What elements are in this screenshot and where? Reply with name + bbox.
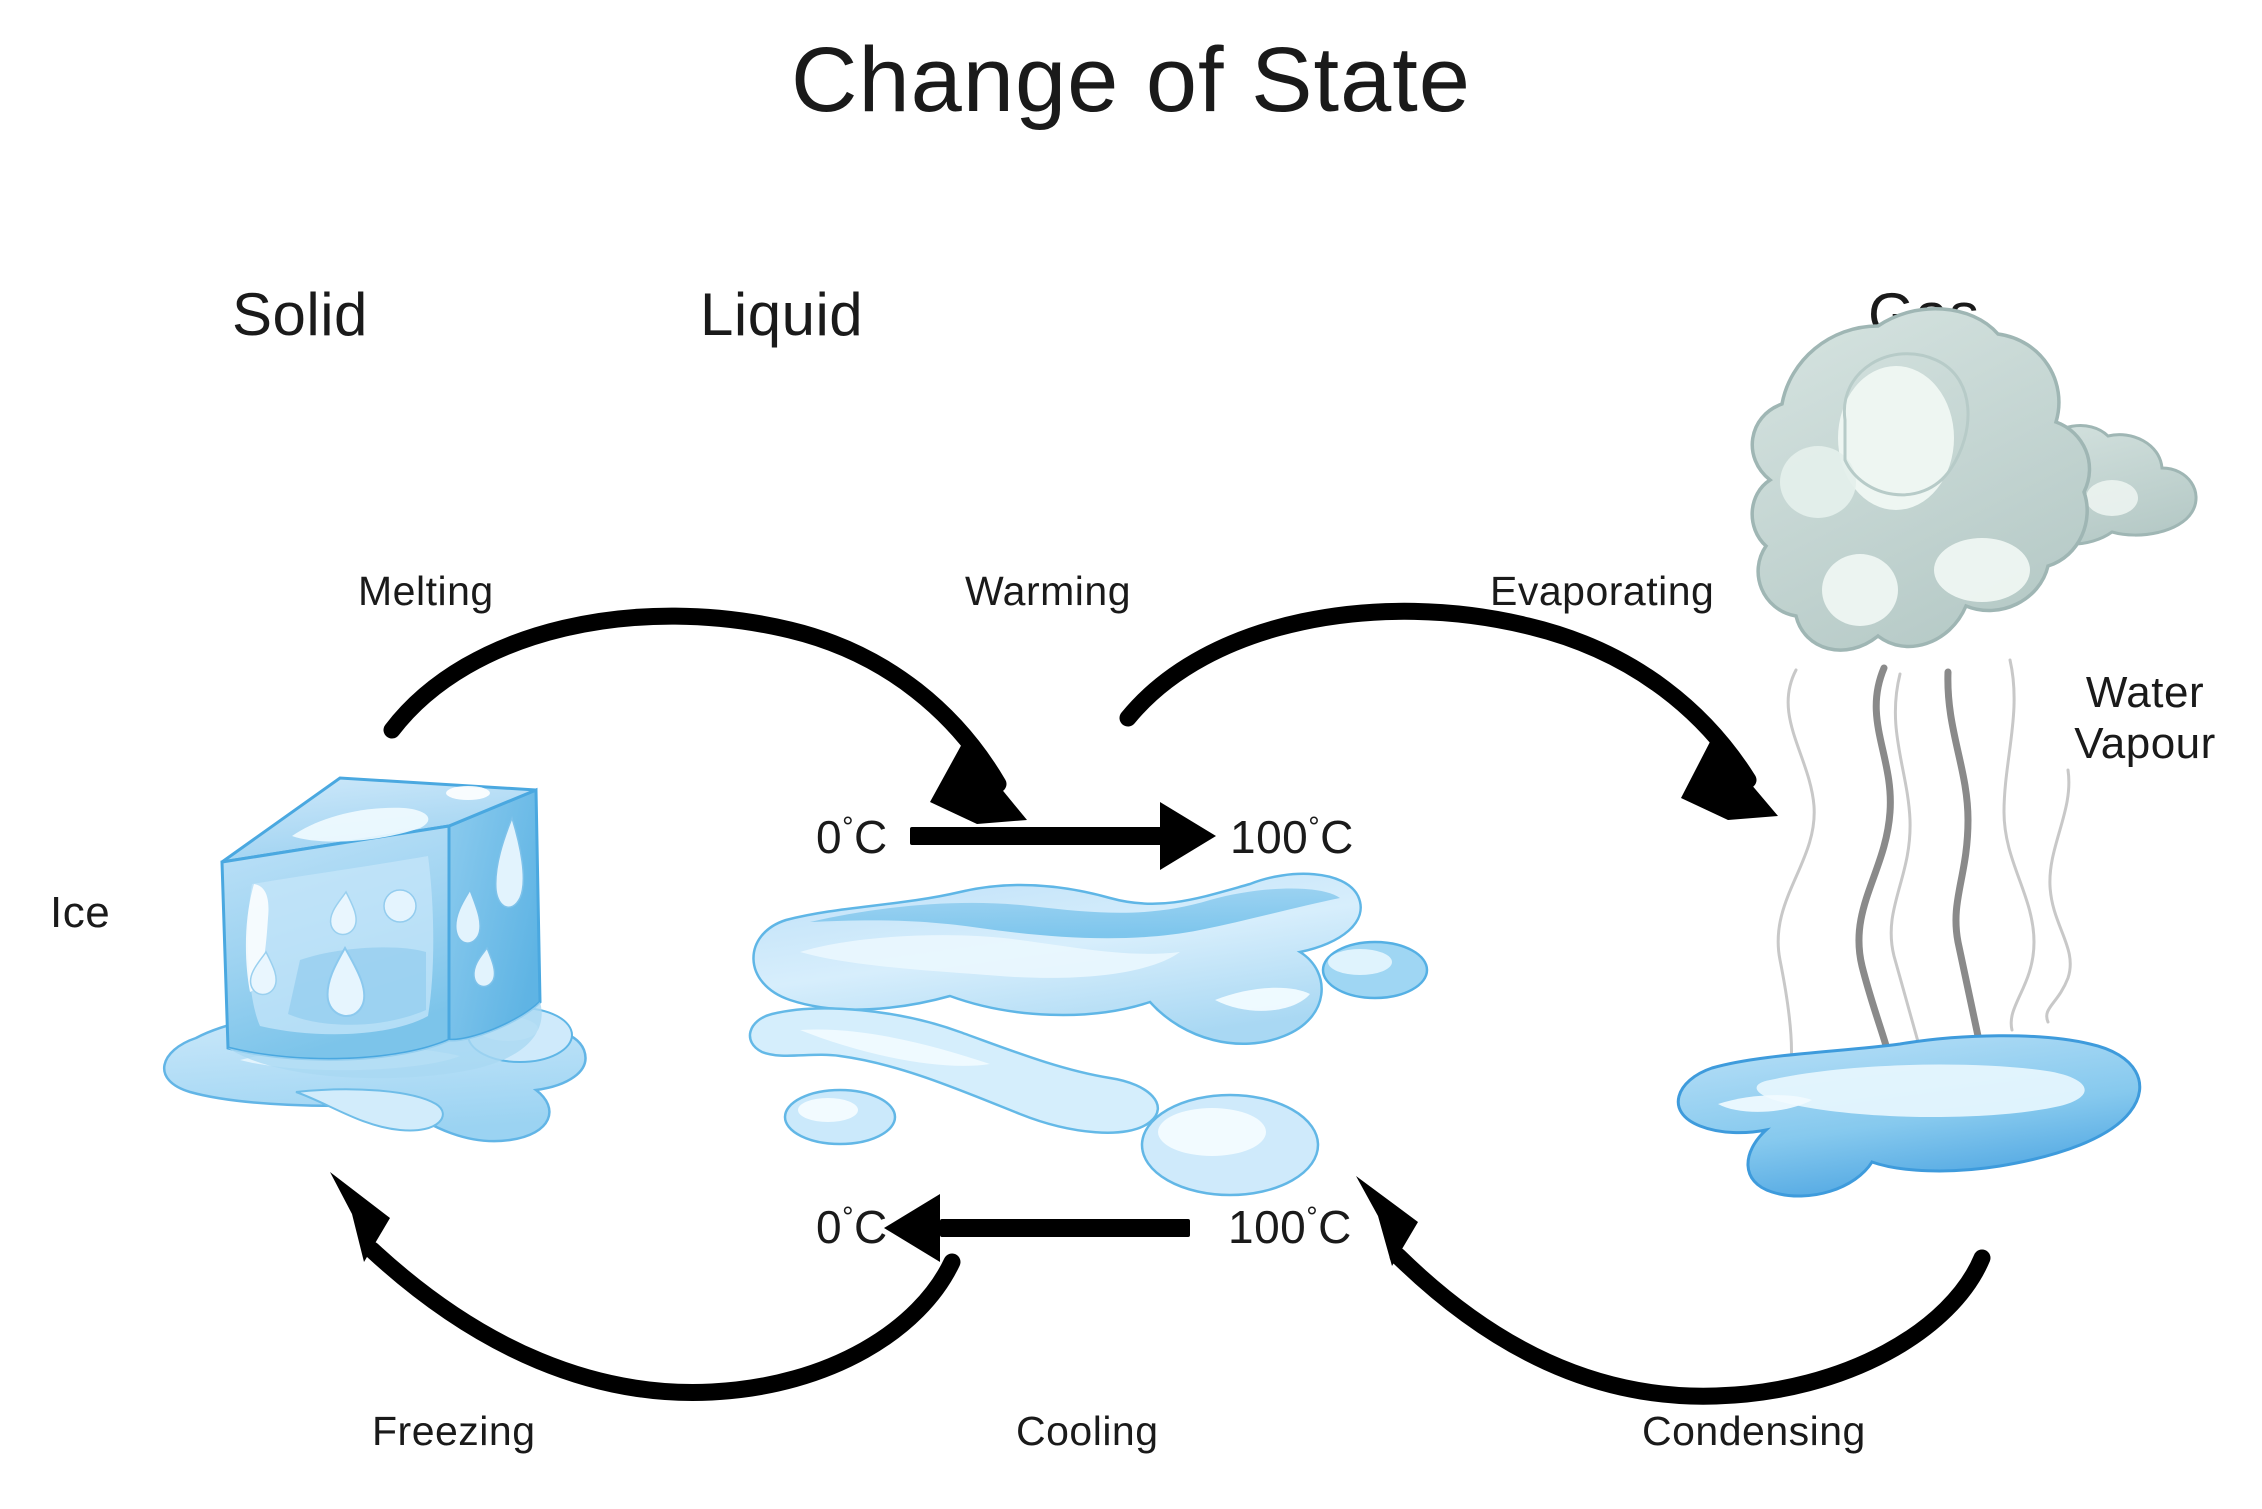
cloud-large-highlight-bottom-right xyxy=(1934,538,2030,602)
water-puddle-illustration xyxy=(750,874,1427,1195)
water-droplet-left-shine xyxy=(798,1098,858,1122)
cloud-large xyxy=(1752,309,2089,650)
cloud-small-highlight-3 xyxy=(2086,480,2138,516)
arrow-cooling-shaft xyxy=(940,1219,1190,1237)
cloud-large-highlight-center xyxy=(1838,366,1954,510)
arrow-condensing-curve xyxy=(1398,1256,1982,1396)
change-of-state-diagram: Change of State Solid Liquid Gas Melting… xyxy=(0,0,2262,1509)
arrow-freezing-curve xyxy=(372,1250,952,1393)
arrow-evaporating-curve xyxy=(1128,611,1748,780)
arrow-melting-curve xyxy=(392,616,998,784)
steam-line-6 xyxy=(2047,770,2071,1022)
arrow-cooling xyxy=(884,1194,1190,1262)
arrow-freezing xyxy=(330,1172,952,1393)
ice-face-bubble xyxy=(384,890,416,922)
ice-cube-top-spark xyxy=(446,786,490,800)
steam-line-1 xyxy=(1778,670,1814,1072)
steam-line-4 xyxy=(1948,672,1978,1036)
ice-cube-illustration xyxy=(164,778,585,1141)
cloud-large-highlight-bottom-left xyxy=(1822,554,1898,626)
gas-illustration xyxy=(1678,309,2196,1196)
arrow-condensing-head xyxy=(1356,1176,1418,1266)
water-droplet-bottom-shine xyxy=(1158,1108,1266,1156)
arrow-condensing xyxy=(1356,1176,1982,1396)
water-droplet-right-small-shine xyxy=(1328,949,1392,975)
steam-lines xyxy=(1778,660,2070,1072)
steam-line-5 xyxy=(2004,660,2034,1030)
steam-line-3 xyxy=(1891,674,1922,1056)
arrow-evaporating xyxy=(1128,611,1778,820)
arrow-cooling-head xyxy=(884,1194,940,1262)
diagram-artwork xyxy=(0,0,2262,1509)
arrow-warming-shaft xyxy=(910,827,1170,845)
arrow-warming-head xyxy=(1160,802,1216,870)
steam-line-2 xyxy=(1859,668,1892,1072)
